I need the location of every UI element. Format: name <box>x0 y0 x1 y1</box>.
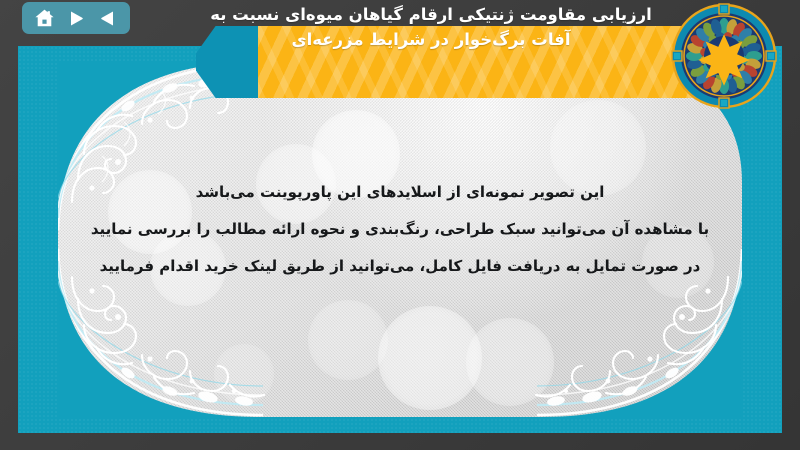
slide-teal-border: این تصویر نمونه‌ای از اسلایدهای این پاور… <box>18 46 782 433</box>
body-line-2: با مشاهده آن می‌توانید سبک طراحی، رنگ‌بن… <box>58 211 742 248</box>
body-line-3: در صورت تمایل به دریافت فایل کامل، می‌تو… <box>58 248 742 285</box>
bokeh-circle <box>466 318 554 406</box>
slide-viewer: این تصویر نمونه‌ای از اسلایدهای این پاور… <box>0 0 800 450</box>
persian-medallion-icon <box>670 2 778 110</box>
body-line-1: این تصویر نمونه‌ای از اسلایدهای این پاور… <box>58 174 742 211</box>
banner-pattern <box>258 26 736 98</box>
triangle-left-icon <box>100 10 116 27</box>
home-button[interactable] <box>31 6 57 30</box>
title-banner <box>258 26 736 98</box>
previous-slide-button[interactable] <box>95 6 121 30</box>
slide-body-text: این تصویر نمونه‌ای از اسلایدهای این پاور… <box>58 174 742 285</box>
home-icon <box>35 9 54 27</box>
next-slide-button[interactable] <box>63 6 89 30</box>
bokeh-circle <box>308 300 388 380</box>
bokeh-circle <box>214 344 274 404</box>
navigation-bar <box>22 2 130 34</box>
triangle-right-icon <box>68 10 84 27</box>
bokeh-circle <box>378 306 482 410</box>
